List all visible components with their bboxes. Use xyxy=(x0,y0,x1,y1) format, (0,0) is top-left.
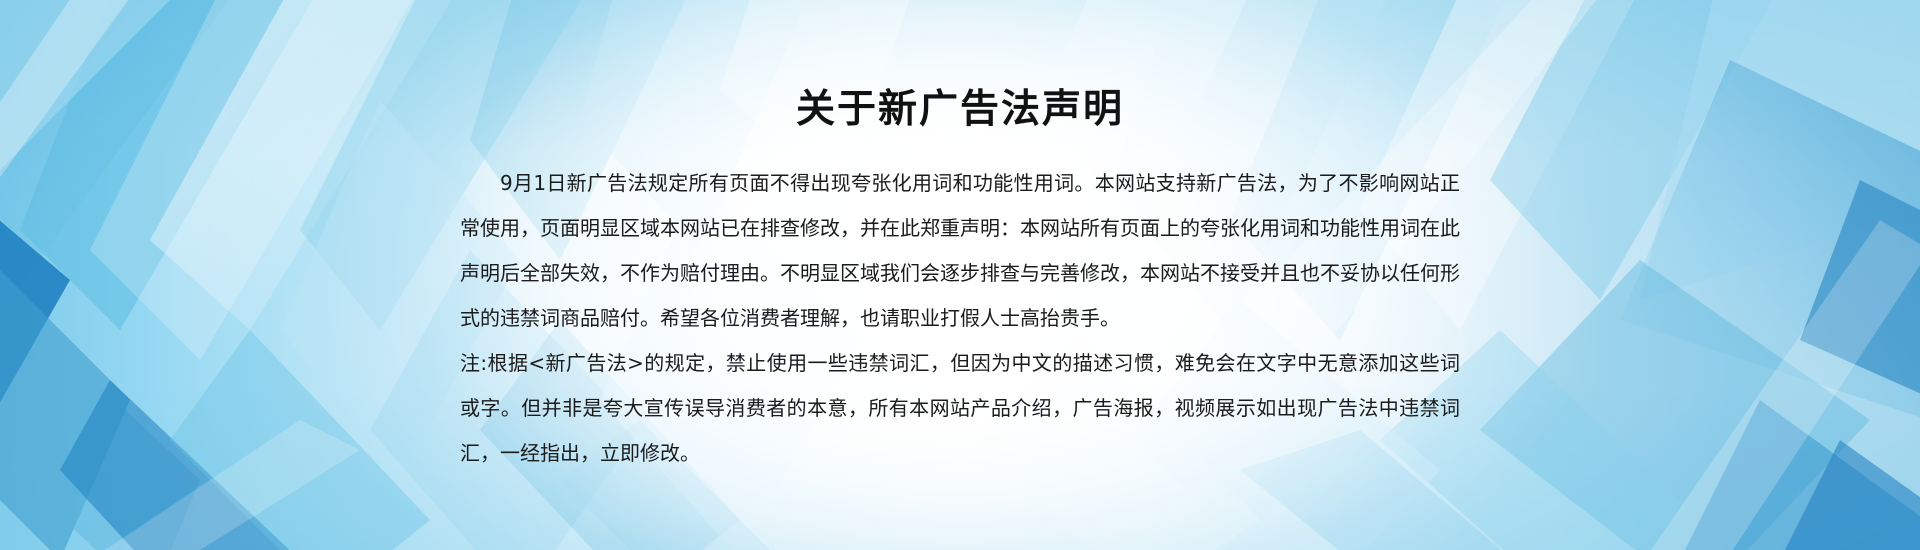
page-title: 关于新广告法声明 xyxy=(460,88,1460,133)
statement-body: 9月1日新广告法规定所有页面不得出现夸张化用词和功能性用词。本网站支持新广告法，… xyxy=(460,161,1460,476)
note-paragraph: 注:根据<新广告法>的规定，禁止使用一些违禁词汇，但因为中文的描述习惯，难免会在… xyxy=(460,341,1460,476)
statement-paragraph: 9月1日新广告法规定所有页面不得出现夸张化用词和功能性用词。本网站支持新广告法，… xyxy=(460,161,1460,341)
advertising-law-statement-banner: 关于新广告法声明 9月1日新广告法规定所有页面不得出现夸张化用词和功能性用词。本… xyxy=(0,0,1920,550)
statement-content: 关于新广告法声明 9月1日新广告法规定所有页面不得出现夸张化用词和功能性用词。本… xyxy=(460,0,1460,550)
